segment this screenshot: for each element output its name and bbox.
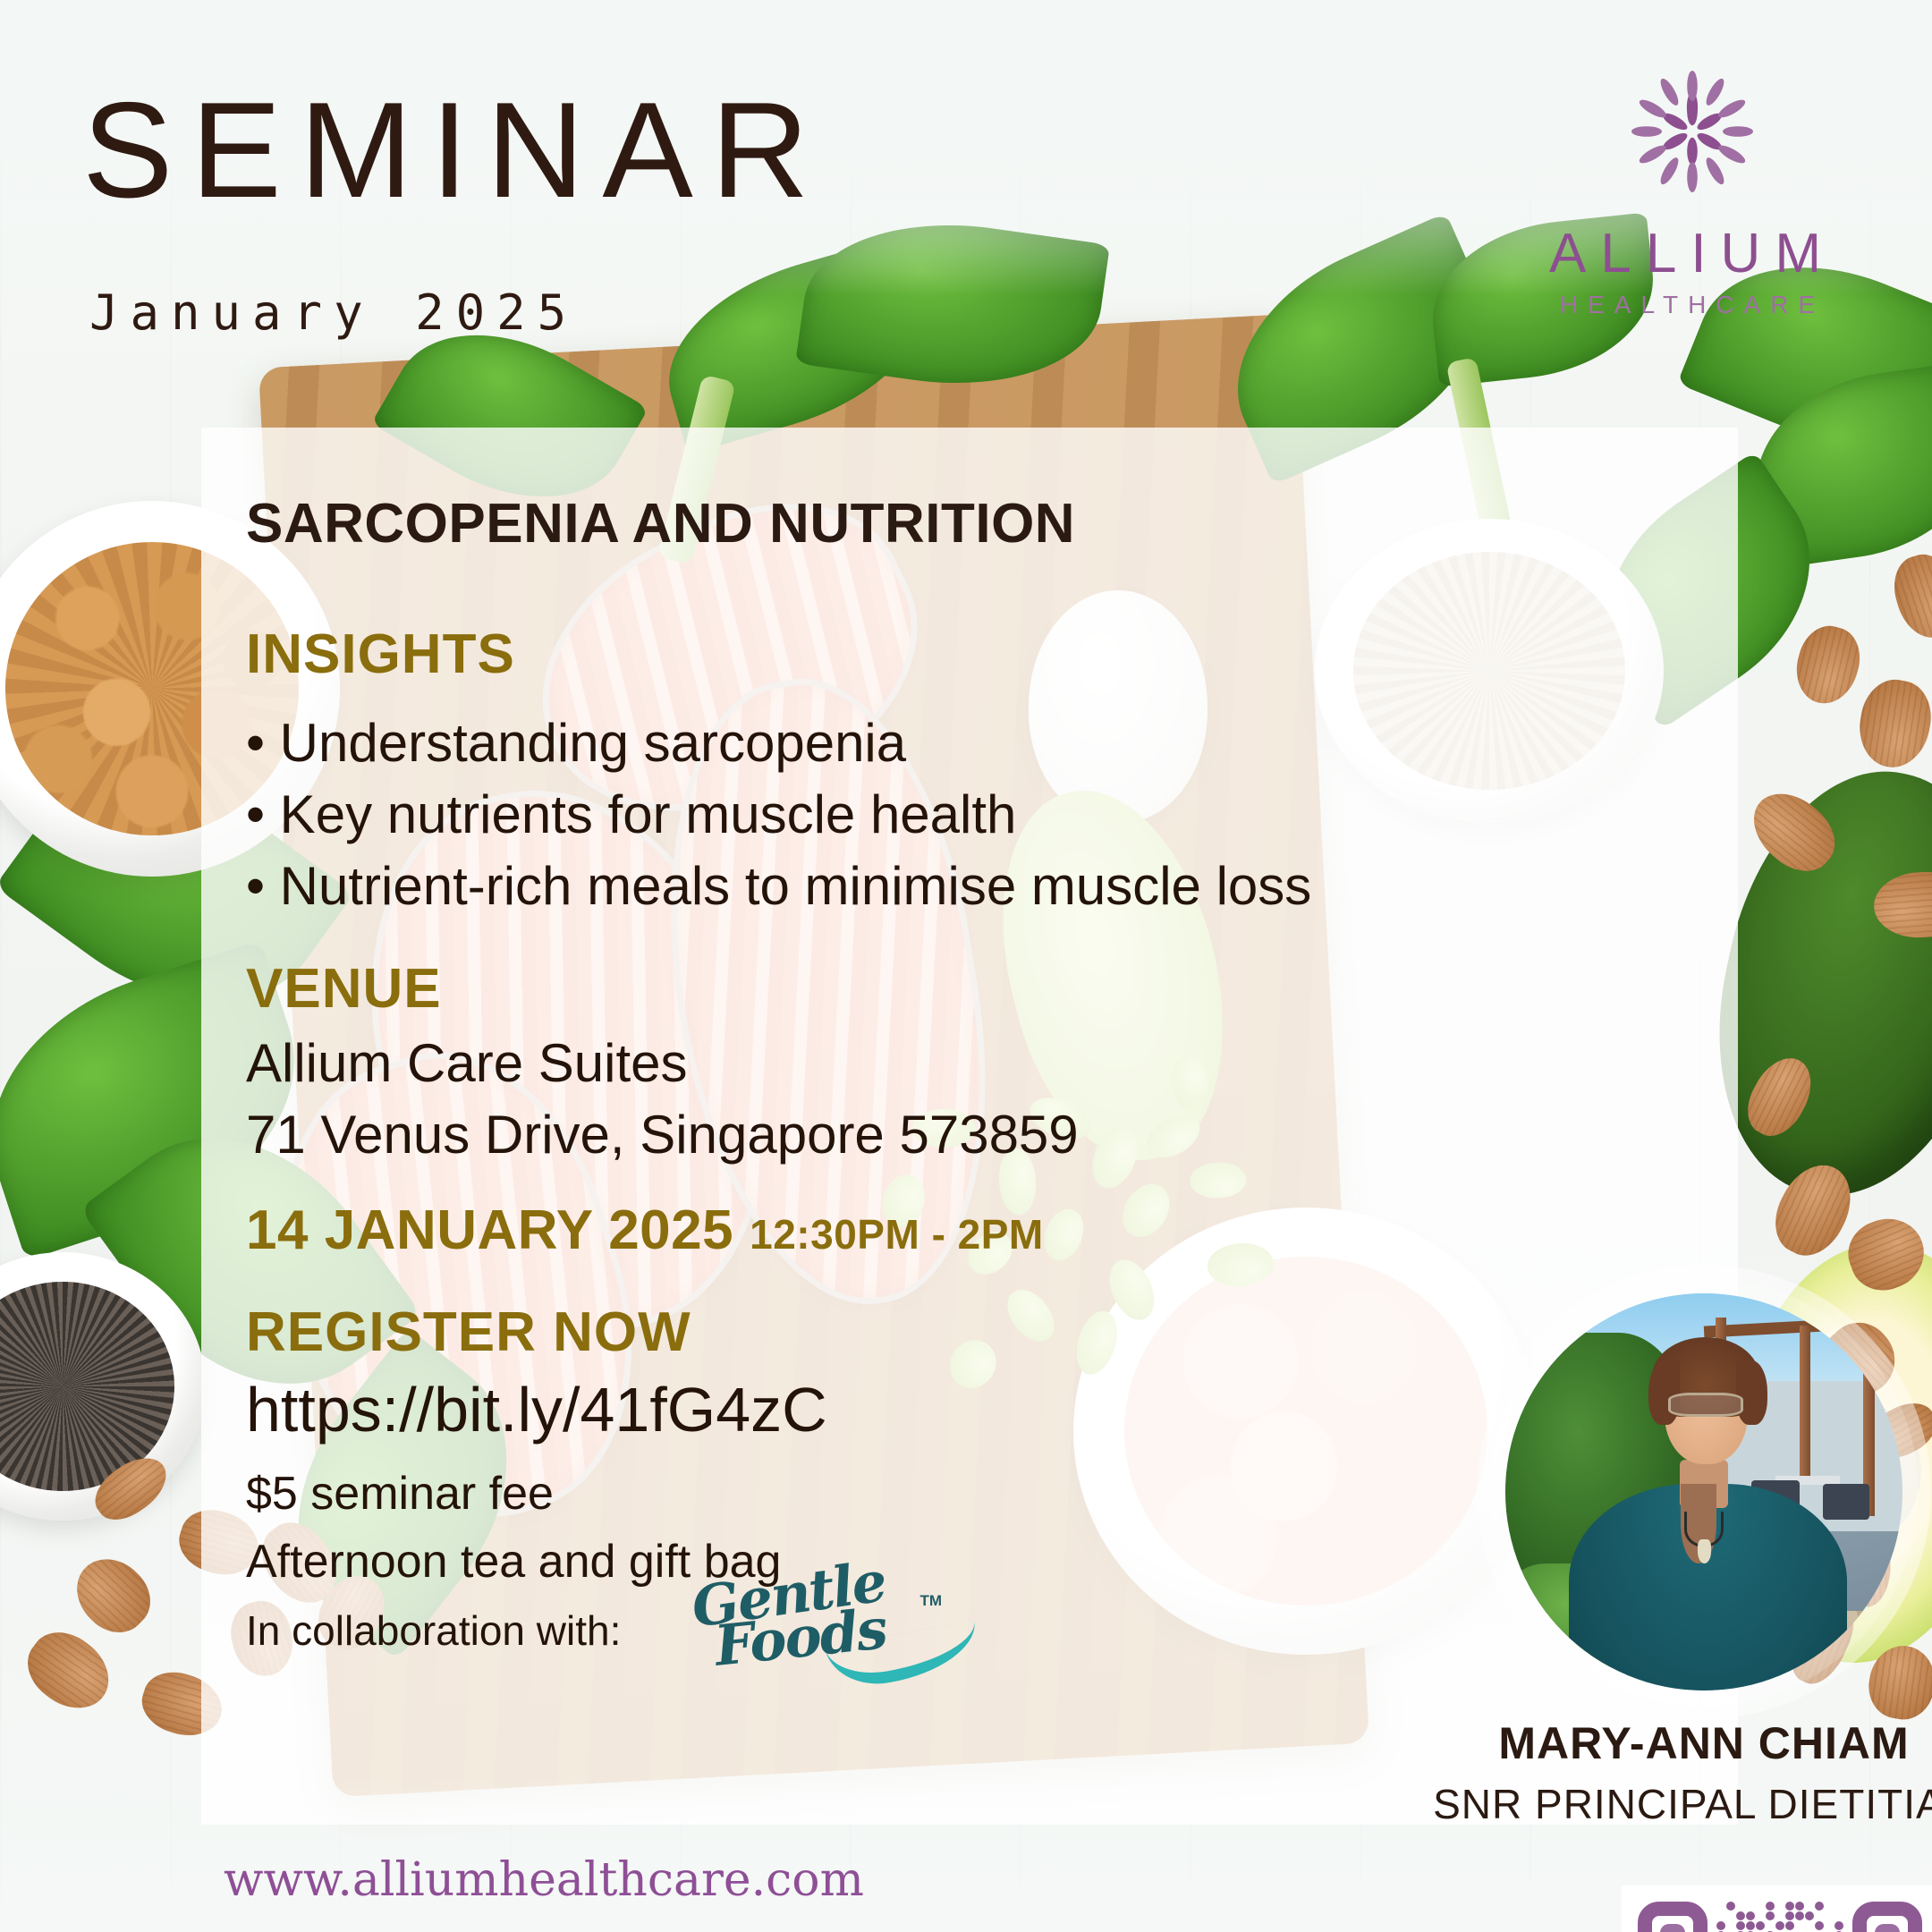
schedule: 14 JANUARY 202512:30PM - 2PM xyxy=(246,1199,1044,1262)
qr-module xyxy=(1707,1902,1716,1911)
seminar-fee: $5 seminar fee xyxy=(246,1467,554,1521)
qr-module xyxy=(1835,1921,1843,1930)
qr-module xyxy=(1756,1911,1765,1920)
qr-module xyxy=(1756,1921,1765,1930)
qr-module xyxy=(1775,1902,1784,1911)
qr-module xyxy=(1726,1911,1735,1920)
qr-module xyxy=(1736,1921,1745,1930)
qr-module xyxy=(1726,1902,1735,1911)
speaker-role: SNR PRINCIPAL DIETITIAN xyxy=(1382,1780,1932,1828)
collaboration-label: In collaboration with: xyxy=(246,1606,621,1655)
allium-flower-logo-icon xyxy=(1607,55,1777,208)
qr-module xyxy=(1815,1902,1824,1911)
qr-module xyxy=(1795,1911,1804,1920)
qr-module xyxy=(1766,1921,1775,1930)
content-panel: SARCOPENIA AND NUTRITION INSIGHTS • Unde… xyxy=(201,428,1738,1825)
trademark-symbol: TM xyxy=(919,1592,942,1610)
qr-module xyxy=(1795,1902,1804,1911)
qr-finder-top-left xyxy=(1638,1902,1707,1932)
venue-name: Allium Care Suites xyxy=(246,1032,688,1094)
qr-module xyxy=(1716,1911,1725,1920)
qr-module xyxy=(1825,1902,1834,1911)
gentle-foods-logo: Gentle Foods TM xyxy=(684,1565,953,1682)
qr-module xyxy=(1766,1911,1775,1920)
brand-name: ALLIUM xyxy=(1531,222,1853,285)
avatar xyxy=(1489,1277,1919,1707)
qr-module xyxy=(1746,1911,1755,1920)
qr-module xyxy=(1825,1921,1834,1930)
brand-tagline: HEALTHCARE xyxy=(1531,291,1853,319)
list-item: • Key nutrients for muscle health xyxy=(246,784,1016,845)
qr-module xyxy=(1805,1902,1814,1911)
qr-code-icon[interactable]: ALLIUM HEALTHCARE xyxy=(1622,1885,1932,1932)
registration-link[interactable]: https://bit.ly/41fG4zC xyxy=(246,1374,827,1445)
insights-heading: INSIGHTS xyxy=(246,623,515,686)
venue-address: 71 Venus Drive, Singapore 573859 xyxy=(246,1104,1079,1165)
qr-module xyxy=(1775,1921,1784,1930)
qr-module xyxy=(1815,1921,1824,1930)
qr-module xyxy=(1746,1902,1755,1911)
qr-module xyxy=(1785,1902,1794,1911)
qr-module xyxy=(1785,1911,1794,1920)
qr-module xyxy=(1736,1902,1745,1911)
qr-module xyxy=(1707,1921,1716,1930)
list-item: • Understanding sarcopenia xyxy=(246,712,906,774)
footer-website[interactable]: www.alliumhealthcare.com xyxy=(224,1853,864,1907)
qr-module xyxy=(1805,1921,1814,1930)
seminar-poster: SEMINAR January 2025 xyxy=(0,0,1932,1932)
qr-module xyxy=(1825,1911,1834,1920)
qr-module xyxy=(1805,1911,1814,1920)
page-subtitle: January 2025 xyxy=(89,284,578,341)
qr-finder-top-right xyxy=(1852,1902,1922,1932)
qr-module xyxy=(1736,1911,1745,1920)
event-time: 12:30PM - 2PM xyxy=(750,1211,1044,1258)
venue-heading: VENUE xyxy=(246,957,442,1021)
qr-module xyxy=(1756,1902,1765,1911)
qr-module xyxy=(1795,1921,1804,1930)
qr-module xyxy=(1844,1902,1853,1911)
list-item: • Nutrient-rich meals to minimise muscle… xyxy=(246,855,1311,917)
qr-module xyxy=(1746,1921,1755,1930)
qr-module xyxy=(1707,1911,1716,1920)
qr-module xyxy=(1835,1902,1843,1911)
brand-logo: ALLIUM HEALTHCARE xyxy=(1531,55,1853,319)
page-title: SEMINAR xyxy=(82,82,827,218)
qr-module xyxy=(1726,1921,1735,1930)
qr-module xyxy=(1766,1902,1775,1911)
speaker-portrait-photo xyxy=(1505,1293,1902,1690)
qr-module xyxy=(1716,1921,1725,1930)
register-heading: REGISTER NOW xyxy=(246,1301,691,1364)
seminar-topic: SARCOPENIA AND NUTRITION xyxy=(246,492,1075,555)
qr-module xyxy=(1716,1902,1725,1911)
qr-module xyxy=(1835,1911,1843,1920)
event-date: 14 JANUARY 2025 xyxy=(246,1199,733,1261)
qr-module xyxy=(1775,1911,1784,1920)
qr-code-grid: ALLIUM HEALTHCARE xyxy=(1638,1902,1922,1932)
qr-module xyxy=(1815,1911,1824,1920)
qr-module xyxy=(1785,1921,1794,1930)
speaker-name: MARY-ANN CHIAM xyxy=(1382,1717,1932,1769)
